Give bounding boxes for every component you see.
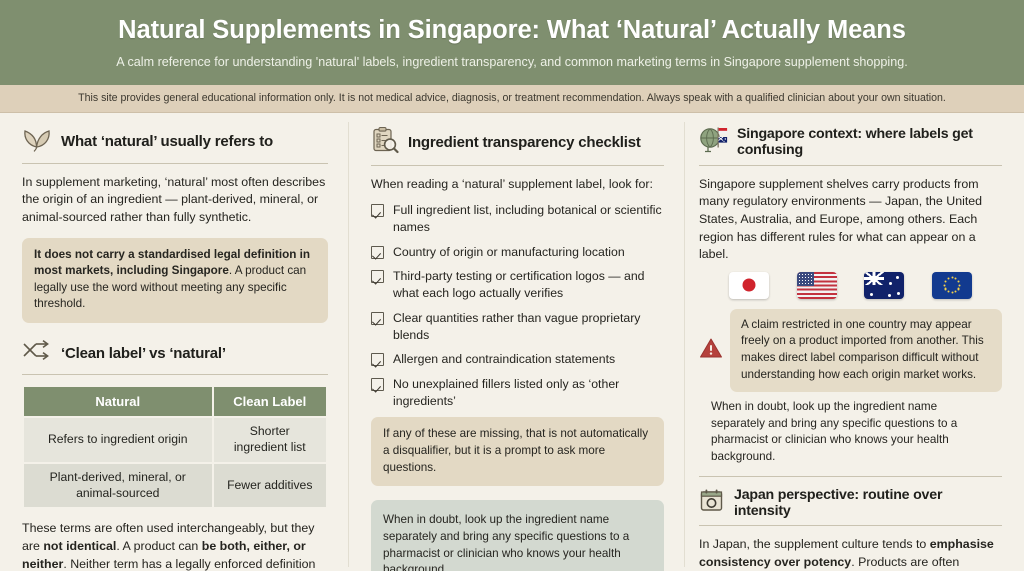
list-item-label: Full ingredient list, including botanica…	[393, 202, 664, 235]
note-part: . A product can	[116, 539, 201, 553]
list-item: Full ingredient list, including botanica…	[371, 202, 664, 235]
southern-cross-star	[888, 294, 891, 297]
column-header-clean-label: Clean Label	[214, 387, 326, 416]
eu-star	[957, 280, 959, 282]
section-title: What ‘natural’ usually refers to	[61, 133, 273, 150]
list-item-label: Third-party testing or certification log…	[393, 268, 664, 301]
section-title: Ingredient transparency checklist	[408, 134, 641, 151]
section-heading: Singapore context: where labels get conf…	[699, 126, 1002, 165]
japan-flag	[729, 272, 769, 299]
european-union-flag	[932, 272, 972, 299]
table-row: Plant-derived, mineral, or animal-source…	[24, 464, 326, 508]
eu-star	[958, 284, 960, 286]
section-singapore-context: Singapore context: where labels get conf…	[699, 126, 1002, 470]
eu-star	[944, 284, 946, 286]
eu-star	[951, 292, 953, 294]
divider	[22, 163, 328, 164]
eu-star	[945, 288, 947, 290]
section-heading: Ingredient transparency checklist	[371, 126, 664, 165]
list-item-label: Country of origin or manufacturing locat…	[393, 244, 625, 261]
page-subtitle: A calm reference for understanding 'natu…	[24, 54, 1000, 70]
checkbox-checked-icon[interactable]	[371, 378, 384, 391]
section-body: In Japan, the supplement culture tends t…	[699, 536, 1002, 571]
united-states-flag	[797, 272, 837, 299]
australia-flag	[864, 272, 904, 299]
eu-star	[951, 277, 953, 279]
list-item: Third-party testing or certification log…	[371, 268, 664, 301]
section-heading: What ‘natural’ usually refers to	[22, 126, 328, 163]
globe-flags-icon	[699, 126, 728, 159]
section-clean-label-vs-natural: ‘Clean label’ vs ‘natural’ Natural Clean…	[22, 339, 328, 571]
singapore-when-in-doubt-note: When in doubt, look up the ingredient na…	[699, 392, 1002, 469]
clean-label-note: These terms are often used interchangeab…	[22, 520, 328, 571]
eu-star	[947, 278, 949, 280]
list-item: Clear quantities rather than vague propr…	[371, 310, 664, 343]
section-title: Japan perspective: routine over intensit…	[734, 487, 1002, 520]
eu-star	[957, 288, 959, 290]
divider	[699, 525, 1002, 526]
divider	[699, 476, 1002, 477]
missing-items-callout: If any of these are missing, that is not…	[371, 417, 664, 486]
list-item-label: Allergen and contraindication statements	[393, 351, 615, 368]
flag-canton	[797, 272, 814, 287]
list-item-label: No unexplained fillers listed only as ‘o…	[393, 376, 664, 409]
table-cell: Shorter ingredient list	[214, 418, 326, 462]
eu-star	[945, 280, 947, 282]
page-header: Natural Supplements in Singapore: What ‘…	[0, 0, 1024, 85]
divider	[371, 165, 664, 166]
section-body: Singapore supplement shelves carry produ…	[699, 176, 1002, 264]
checkbox-checked-icon[interactable]	[371, 270, 384, 283]
right-column: Singapore context: where labels get conf…	[685, 122, 1024, 567]
table-cell: Fewer additives	[214, 464, 326, 508]
eu-star	[947, 291, 949, 293]
checkbox-checked-icon[interactable]	[371, 312, 384, 325]
note-part-bold: not identical	[43, 539, 116, 553]
transparency-checklist: Full ingredient list, including botanica…	[371, 202, 664, 409]
disclaimer-banner: This site provides general educational i…	[0, 85, 1024, 113]
content-columns: What ‘natural’ usually refers to In supp…	[0, 113, 1024, 571]
union-jack-canton	[864, 272, 884, 286]
section-body: In supplement marketing, ‘natural’ most …	[22, 174, 328, 227]
divider	[699, 165, 1002, 166]
note-part: . Neither term has a legally enforced de…	[22, 557, 315, 571]
eu-star	[955, 278, 957, 280]
checkbox-checked-icon[interactable]	[371, 353, 384, 366]
warning-triangle-icon	[699, 337, 723, 364]
section-what-natural-means: What ‘natural’ usually refers to In supp…	[22, 126, 328, 323]
divider	[22, 374, 328, 375]
leaf-icon	[22, 126, 52, 157]
comparison-table: Natural Clean Label Refers to ingredient…	[22, 385, 328, 509]
warning-text: A claim restricted in one country may ap…	[730, 309, 1002, 392]
list-item: Country of origin or manufacturing locat…	[371, 244, 664, 261]
checkbox-checked-icon[interactable]	[371, 204, 384, 217]
eu-star	[955, 291, 957, 293]
claim-restriction-warning: A claim restricted in one country may ap…	[699, 309, 1002, 392]
table-header-row: Natural Clean Label	[24, 387, 326, 416]
list-item-label: Clear quantities rather than vague propr…	[393, 310, 664, 343]
table-cell: Refers to ingredient origin	[24, 418, 212, 462]
legal-definition-callout: It does not carry a standardised legal d…	[22, 238, 328, 323]
shuffle-arrows-icon	[22, 339, 52, 368]
southern-cross-star	[889, 282, 892, 285]
page-title: Natural Supplements in Singapore: What ‘…	[24, 16, 1000, 45]
southern-cross-star	[897, 292, 900, 295]
table-row: Refers to ingredient origin Shorter ingr…	[24, 418, 326, 462]
clipboard-magnifier-icon	[371, 126, 399, 159]
table-cell: Plant-derived, mineral, or animal-source…	[24, 464, 212, 508]
southern-cross-star	[896, 276, 899, 279]
list-item: Allergen and contraindication statements	[371, 351, 664, 368]
calendar-icon	[699, 488, 725, 517]
when-in-doubt-callout: When in doubt, look up the ingredient na…	[371, 500, 664, 571]
section-heading: ‘Clean label’ vs ‘natural’	[22, 339, 328, 374]
middle-column: Ingredient transparency checklist When r…	[348, 122, 685, 567]
checklist-intro: When reading a ‘natural’ supplement labe…	[371, 176, 664, 194]
section-title: Singapore context: where labels get conf…	[737, 126, 1002, 159]
section-title: ‘Clean label’ vs ‘natural’	[61, 345, 226, 362]
commonwealth-star	[870, 293, 873, 296]
infographic-page: Natural Supplements in Singapore: What ‘…	[0, 0, 1024, 571]
section-heading: Japan perspective: routine over intensit…	[699, 487, 1002, 526]
left-column: What ‘natural’ usually refers to In supp…	[0, 122, 348, 567]
list-item: No unexplained fillers listed only as ‘o…	[371, 376, 664, 409]
section-japan-perspective: Japan perspective: routine over intensit…	[699, 487, 1002, 571]
checkbox-checked-icon[interactable]	[371, 246, 384, 259]
column-header-natural: Natural	[24, 387, 212, 416]
regulatory-region-flags	[699, 264, 1002, 309]
eu-star-circle	[944, 277, 961, 294]
body-part: In Japan, the supplement culture tends t…	[699, 537, 930, 551]
